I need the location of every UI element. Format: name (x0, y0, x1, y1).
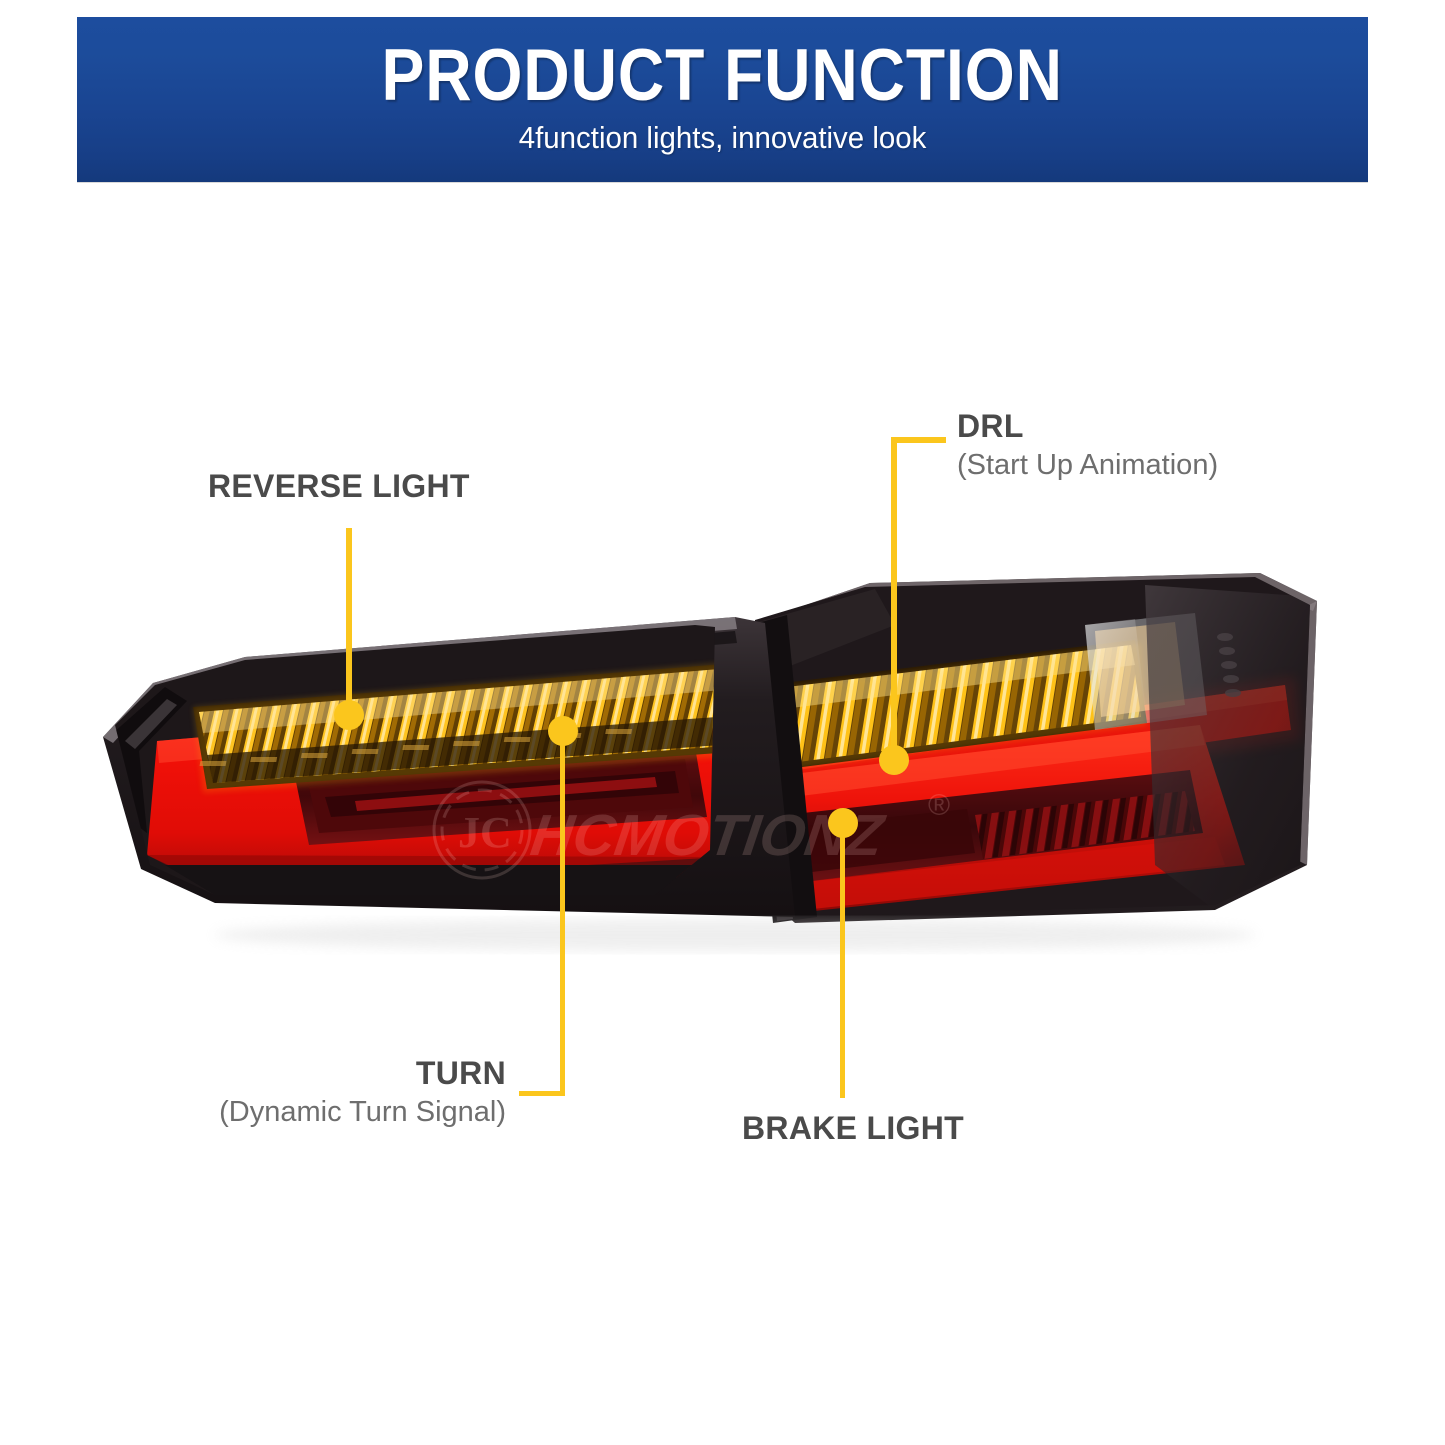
callout-reverse-light: REVERSE LIGHT (208, 466, 470, 506)
leader-line-brake-light (840, 822, 845, 1098)
page-title: PRODUCT FUNCTION (382, 36, 1063, 116)
leader-line-drl-vertical (891, 437, 897, 762)
page-root: PRODUCT FUNCTION 4function lights, innov… (0, 0, 1445, 1445)
leader-line-drl-horizontal (891, 437, 946, 443)
header-banner: PRODUCT FUNCTION 4function lights, innov… (77, 17, 1368, 182)
callout-subtitle-turn: (Dynamic Turn Signal) (186, 1093, 506, 1131)
leader-line-turn-vertical (560, 730, 565, 1096)
callout-dot-drl (879, 745, 909, 775)
tail-light-right-unit (715, 565, 1335, 965)
tail-light-image (95, 565, 1340, 965)
callout-drl: DRL (Start Up Animation) (957, 406, 1218, 484)
callout-title-brake-light: BRAKE LIGHT (742, 1108, 964, 1148)
callout-dot-reverse-light (334, 700, 364, 730)
callout-turn: TURN (Dynamic Turn Signal) (186, 1053, 506, 1131)
callout-title-drl: DRL (957, 406, 1218, 446)
tail-light-illustration (95, 565, 1340, 965)
callout-subtitle-drl: (Start Up Animation) (957, 446, 1218, 484)
callout-title-reverse-light: REVERSE LIGHT (208, 466, 470, 506)
leader-line-turn-horizontal (519, 1091, 565, 1096)
page-subtitle: 4function lights, innovative look (519, 120, 927, 156)
callout-brake-light: BRAKE LIGHT (742, 1108, 964, 1148)
leader-line-reverse-light (346, 528, 352, 716)
tail-light-left-unit (95, 605, 795, 965)
callout-title-turn: TURN (186, 1053, 506, 1093)
